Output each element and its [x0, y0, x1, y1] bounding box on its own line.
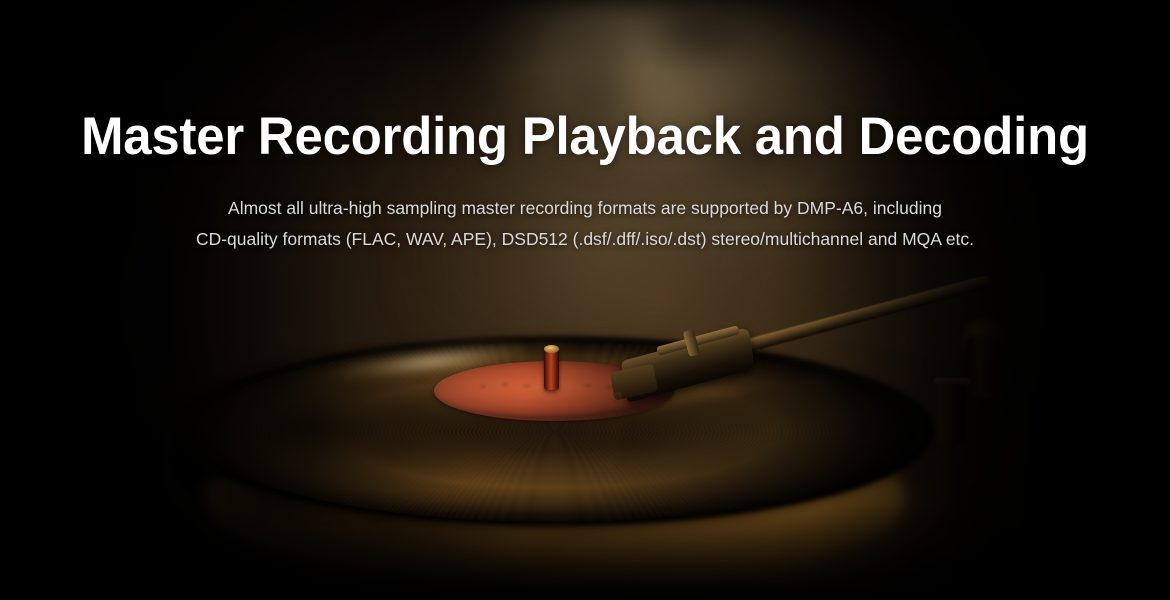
vinyl-grooves — [195, 342, 915, 522]
record-label-print — [444, 371, 662, 405]
hero-banner: Master Recording Playback and Decoding A… — [0, 0, 1170, 600]
hero-text-block: Master Recording Playback and Decoding A… — [0, 0, 1170, 255]
tonearm-headshell — [621, 327, 755, 403]
page-title: Master Recording Playback and Decoding — [23, 0, 1146, 165]
hero-subtitle-line-1: Almost all ultra-high sampling master re… — [0, 193, 1170, 224]
vinyl-specular-highlight — [279, 327, 581, 397]
turntable-plinth — [205, 412, 905, 587]
plinth-shadow — [150, 430, 580, 600]
hero-subtitle: Almost all ultra-high sampling master re… — [0, 165, 1170, 255]
record-label-shading — [434, 361, 674, 421]
spindle-cap — [544, 345, 559, 353]
turntable-spindle — [544, 348, 559, 390]
headshell-finger-lift — [656, 325, 739, 355]
phono-cartridge — [610, 364, 659, 401]
tonearm — [698, 275, 991, 365]
hero-subtitle-line-2: CD-quality formats (FLAC, WAV, APE), DSD… — [0, 224, 1170, 255]
tonearm-reflection — [617, 377, 830, 471]
tonearm-rest-top — [934, 378, 970, 387]
vinyl-record — [195, 342, 915, 522]
vinyl-record-rim — [178, 336, 934, 526]
tonearm-pivot — [962, 318, 1008, 364]
vinyl-left-shadow — [185, 360, 605, 530]
vinyl-light-sweep — [195, 342, 915, 522]
stylus — [613, 391, 623, 404]
tonearm-rest — [938, 384, 966, 442]
tonearm-post — [966, 336, 1000, 398]
record-label — [434, 361, 674, 421]
headshell-finger-lift-cross — [683, 329, 700, 357]
